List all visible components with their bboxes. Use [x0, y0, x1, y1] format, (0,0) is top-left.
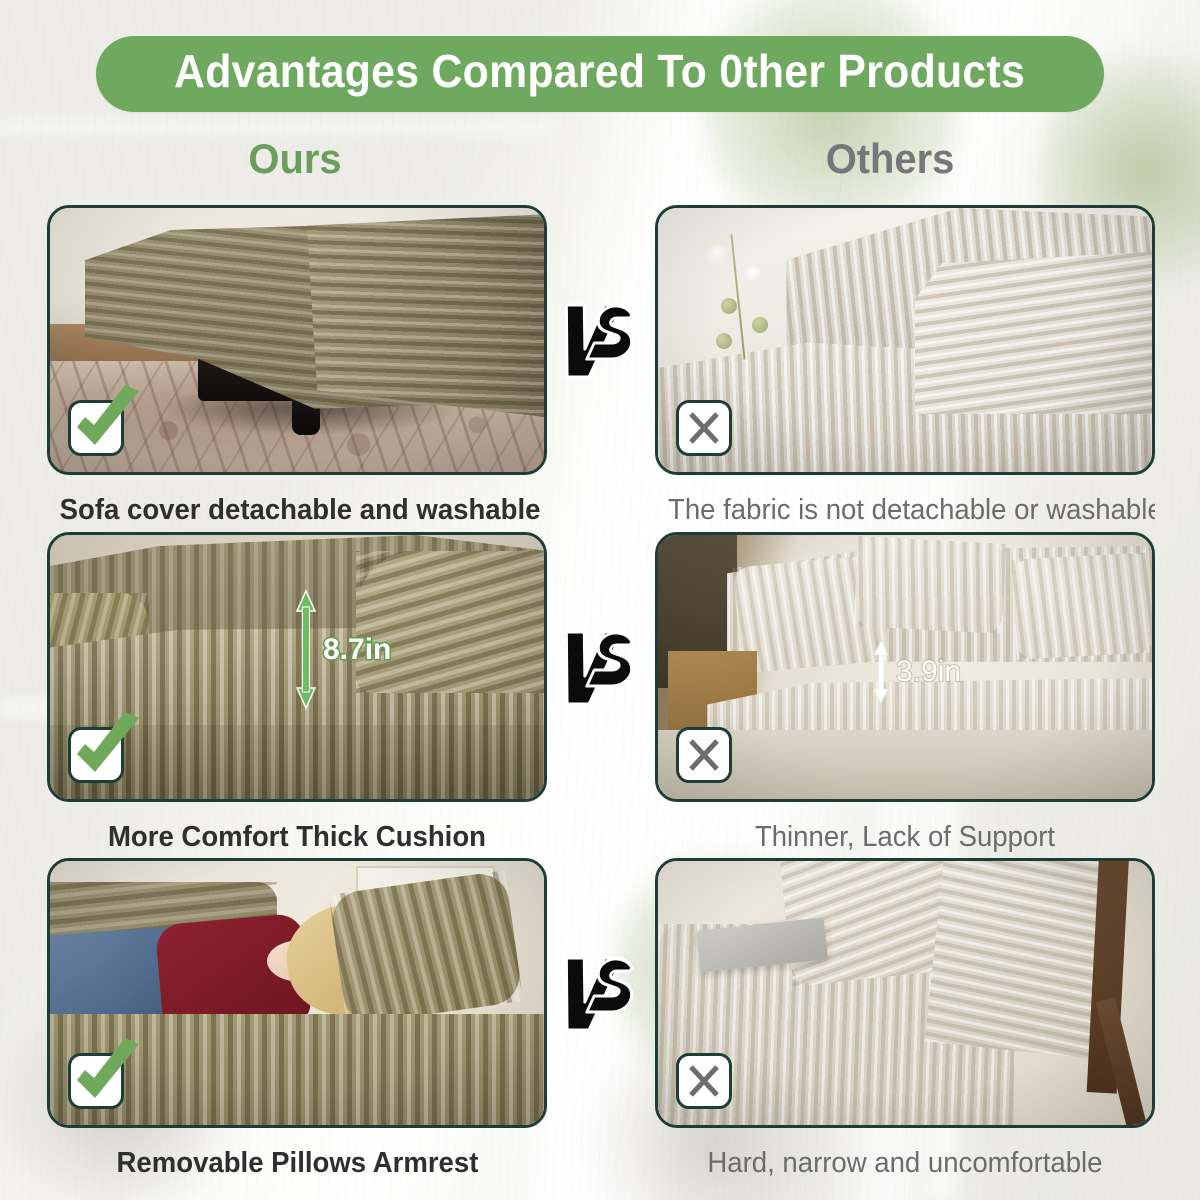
others-image-card-1 — [655, 205, 1155, 475]
vs-icon — [550, 624, 650, 710]
vs-badge-1 — [550, 297, 650, 388]
check-icon — [65, 708, 151, 794]
dimension-annotation-others: 3.9in — [870, 639, 961, 705]
check-badge — [68, 400, 124, 456]
check-badge — [68, 727, 124, 783]
page-title: Advantages Compared To 0ther Products — [174, 46, 1025, 98]
double-arrow-icon — [870, 639, 892, 705]
ours-caption-3: Removable Pillows Armrest — [47, 1140, 547, 1186]
vs-icon — [550, 950, 650, 1036]
others-caption-2: Thinner, Lack of Support — [655, 814, 1155, 860]
others-image-card-3 — [655, 858, 1155, 1128]
x-icon — [686, 410, 722, 446]
ours-image-card-2: 8.7in — [47, 532, 547, 802]
cream-sofa-fixed-fabric-photo — [658, 208, 1152, 472]
x-badge — [676, 727, 732, 783]
others-caption-3: Hard, narrow and uncomfortable — [655, 1140, 1155, 1186]
others-image-card-2: 3.9in — [655, 532, 1155, 802]
x-icon — [686, 1063, 722, 1099]
vs-badge-2 — [550, 624, 650, 715]
check-icon — [65, 381, 151, 467]
x-icon — [686, 737, 722, 773]
check-icon — [65, 1034, 151, 1120]
others-caption-1: The fabric is not detachable or washable — [655, 487, 1155, 533]
title-pill: Advantages Compared To 0ther Products — [96, 36, 1103, 112]
vs-icon — [550, 297, 650, 383]
x-badge — [676, 400, 732, 456]
double-arrow-icon — [293, 587, 319, 712]
ours-image-card-3 — [47, 858, 547, 1128]
column-header-others: Others — [590, 138, 1190, 180]
ours-caption-1: Sofa cover detachable and washable — [47, 487, 547, 533]
dimension-label-others: 3.9in — [896, 657, 961, 687]
x-badge — [676, 1053, 732, 1109]
ours-image-card-1 — [47, 205, 547, 475]
column-header-ours: Ours — [0, 138, 590, 180]
vs-badge-3 — [550, 950, 650, 1041]
title-banner: Advantages Compared To 0ther Products — [0, 36, 1200, 112]
check-badge — [68, 1053, 124, 1109]
dimension-annotation-ours: 8.7in — [293, 587, 391, 712]
dimension-label-ours: 8.7in — [323, 635, 391, 665]
ours-caption-2: More Comfort Thick Cushion — [47, 814, 547, 860]
cream-sofa-narrow-armrest-photo — [658, 861, 1152, 1125]
